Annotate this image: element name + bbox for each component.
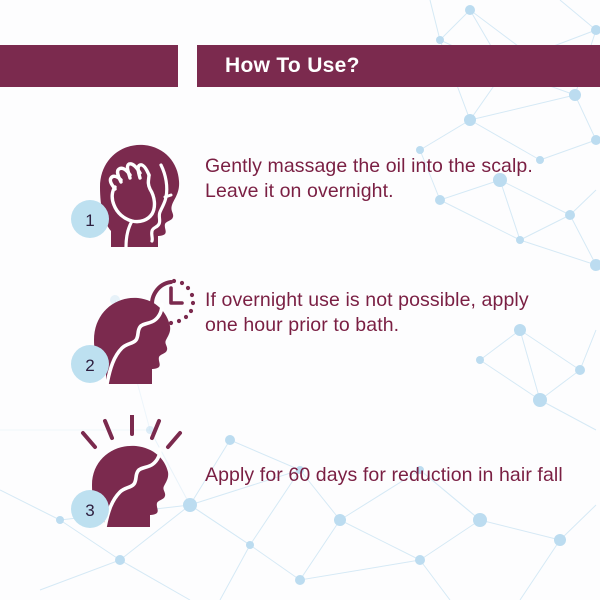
step-3-figure: 3: [70, 415, 195, 535]
step-1-text: Gently massage the oil into the scalp. L…: [205, 154, 565, 204]
step-1-figure: 1: [70, 135, 195, 255]
step-1-badge: 1: [71, 200, 109, 238]
step-3-text: Apply for 60 days for reduction in hair …: [205, 463, 565, 488]
step-3-number: 3: [85, 501, 94, 520]
step-3-badge: 3: [71, 490, 109, 528]
infographic-page: How To Use? 1: [0, 0, 600, 600]
step-2-figure: 2: [70, 272, 195, 392]
step-2-number: 2: [85, 356, 94, 375]
step-2-text: If overnight use is not possible, apply …: [205, 288, 565, 338]
shine-rays-icon: [83, 415, 180, 447]
header-bar-left: [0, 45, 178, 87]
page-title: How To Use?: [225, 45, 360, 87]
step-1-number: 1: [85, 211, 94, 230]
step-2-badge: 2: [71, 345, 109, 383]
head-hand-massage-icon: [100, 145, 179, 247]
